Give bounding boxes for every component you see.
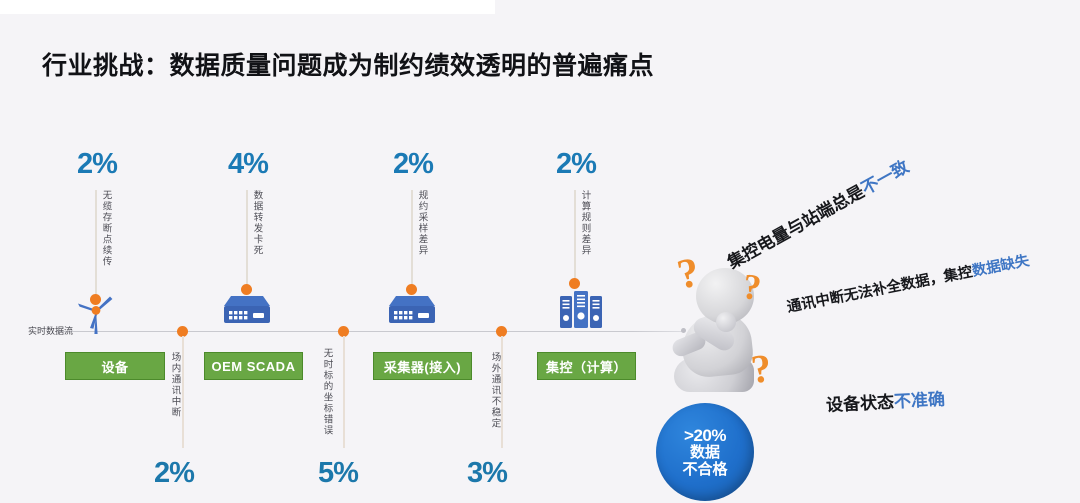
- axis-label: 实时数据流: [28, 324, 73, 337]
- upper-percent-3: 2%: [393, 148, 433, 181]
- badge-line-2: 数据: [690, 445, 720, 462]
- wind-turbine-icon: [72, 288, 120, 341]
- lower-label-3: 场外通讯不稳定: [490, 352, 500, 429]
- badge-line-3: 不合格: [682, 462, 727, 479]
- figure-fist: [716, 312, 736, 332]
- badge-percent: >20%: [684, 426, 726, 445]
- stem-lower-1: [182, 336, 184, 448]
- annotation-1-black: 集控电量与站端总是: [724, 182, 867, 273]
- stem-lower-2: [343, 336, 345, 448]
- upper-label-4: 计算规则差异: [580, 190, 590, 256]
- stem-lower-3: [501, 336, 503, 448]
- pipeline-box-collector[interactable]: 采集器(接入): [373, 352, 472, 380]
- annotation-2: 通讯中断无法补全数据，集控数据缺失: [785, 249, 1031, 317]
- stem-upper-3: [411, 190, 413, 288]
- annotation-3-blue: 不准确: [894, 390, 946, 412]
- slide-canvas: 行业挑战：数据质量问题成为制约绩效透明的普遍痛点 实时数据流 2% 无缆存断点续…: [0, 0, 1080, 503]
- server-rack-icon: [557, 288, 605, 337]
- lower-percent-3: 3%: [467, 457, 507, 490]
- stem-upper-1: [95, 190, 97, 298]
- lower-percent-1: 2%: [154, 457, 194, 490]
- annotation-2-black: 通讯中断无法补全数据，集控: [786, 264, 974, 316]
- network-switch-icon-2: [385, 292, 439, 335]
- lower-label-2: 无时标的坐标错误: [322, 348, 332, 436]
- upper-label-2: 数据转发卡死: [252, 190, 262, 256]
- upper-percent-2: 4%: [228, 148, 268, 181]
- annotation-3-black: 设备状态: [826, 392, 895, 415]
- annotation-1-blue: 不一致: [858, 157, 912, 198]
- stem-upper-2: [246, 190, 248, 288]
- top-white-strip: [0, 0, 495, 14]
- pipeline-box-oem-scada[interactable]: OEM SCADA: [204, 352, 303, 380]
- annotation-3: 设备状态不准确: [825, 385, 945, 416]
- upper-percent-1: 2%: [77, 148, 117, 181]
- upper-label-3: 规约采样差异: [417, 190, 427, 256]
- pipeline-box-control[interactable]: 集控（计算）: [537, 352, 636, 380]
- annotation-2-blue: 数据缺失: [971, 253, 1031, 280]
- page-title: 行业挑战：数据质量问题成为制约绩效透明的普遍痛点: [42, 46, 654, 82]
- lower-label-1: 场内通讯中断: [170, 352, 180, 418]
- network-switch-icon: [220, 292, 274, 335]
- upper-label-1: 无缆存断点续传: [101, 190, 111, 267]
- upper-percent-4: 2%: [556, 148, 596, 181]
- lower-percent-2: 5%: [318, 457, 358, 490]
- status-badge: >20% 数据 不合格: [656, 403, 754, 501]
- annotation-1: 集控电量与站端总是不一致: [722, 153, 913, 274]
- stem-upper-4: [574, 190, 576, 282]
- pipeline-box-device[interactable]: 设备: [65, 352, 165, 380]
